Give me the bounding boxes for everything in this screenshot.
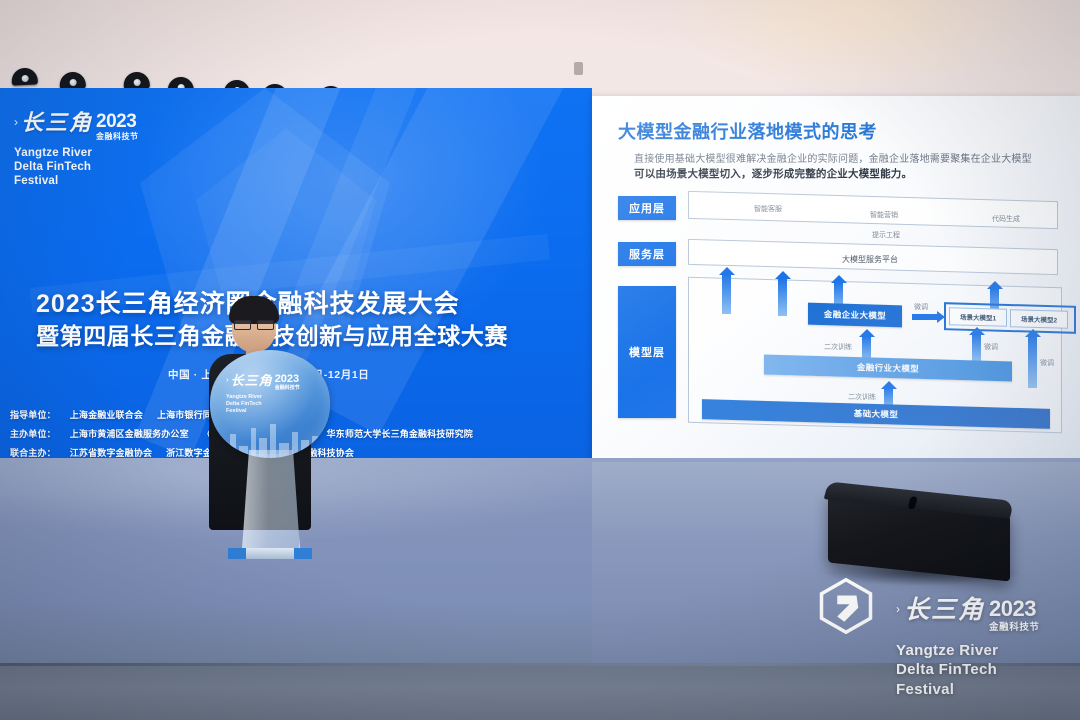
scene-model-box: 场景大模型2: [1010, 309, 1068, 329]
logo-en-line1: Yangtze River: [226, 394, 316, 401]
watermark-text: › 长三角 2023 金融科技节 Yangtze River Delta Fin…: [896, 598, 1068, 699]
logo-cn-subtitle: 金融科技节: [96, 133, 139, 141]
podium-foot-left: [228, 548, 246, 559]
sponsor-org: 江苏省数字金融协会: [70, 448, 152, 458]
sponsor-label: 主办单位：: [10, 429, 56, 439]
application-item: 智能客服: [754, 204, 782, 214]
hexagon-logo-icon: [818, 578, 874, 634]
arrow-label-finetune: 微调: [914, 302, 928, 312]
logo-year: 2023: [275, 374, 300, 385]
prompt-engineering-note: 提示工程: [872, 230, 900, 240]
projection-screen: 大模型金融行业落地模式的思考 直接使用基础大模型很难解决金融企业的实际问题，金融…: [592, 96, 1080, 466]
layer-chip-application: 应用层: [618, 196, 676, 220]
logo-en-line2: Delta FinTech: [896, 660, 1068, 680]
logo-arrow-icon: ›: [14, 112, 18, 132]
sponsor-org: 上海金融业联合会: [70, 410, 143, 420]
logo-en-line3: Festival: [226, 408, 316, 415]
arrow-label-retrain: 二次训练: [848, 392, 876, 402]
sponsor-label: 联合主办：: [10, 448, 56, 458]
logo-cn-subtitle: 金融科技节: [275, 386, 300, 391]
logo-year: 2023: [989, 598, 1040, 620]
logo-en-line3: Festival: [896, 680, 1068, 700]
logo-en-line2: Delta FinTech: [14, 160, 184, 174]
sponsor-org: 华东师范大学长三角金融科技研究院: [327, 429, 473, 439]
up-arrow-icon: [972, 334, 981, 362]
layer-chip-service: 服务层: [618, 242, 676, 266]
glasses-icon: [234, 320, 274, 328]
sponsor-label: 指导单位：: [10, 410, 56, 420]
slide-subtitle-line1: 直接使用基础大模型很难解决金融企业的实际问题，金融企业落地需要聚集在企业大模型: [634, 150, 1032, 165]
logo-cn-name: 长三角: [904, 598, 985, 623]
scene-model-box: 场景大模型1: [949, 307, 1007, 327]
arrow-label-finetune: 微调: [1040, 358, 1054, 368]
logo-en-line2: Delta FinTech: [226, 401, 316, 408]
podium: › 长三角 2023 金融科技节 Yangtze River Delta Fin…: [210, 350, 330, 565]
layer-chip-model: 模型层: [618, 286, 676, 418]
arrow-label-finetune: 微调: [984, 342, 998, 352]
up-arrow-icon: [1028, 336, 1037, 388]
logo-year: 2023: [96, 112, 139, 131]
logo-en-line1: Yangtze River: [896, 641, 1068, 661]
backdrop-festival-logo: › 长三角 2023 金融科技节 Yangtze River Delta Fin…: [14, 112, 184, 188]
arrow-label-retrain: 二次训练: [824, 342, 852, 352]
presentation-slide: 大模型金融行业落地模式的思考 直接使用基础大模型很难解决金融企业的实际问题，金融…: [592, 96, 1080, 466]
ceiling-speaker-icon: [574, 62, 583, 75]
logo-cn-name: 长三角: [231, 374, 273, 387]
service-platform-label: 大模型服务平台: [842, 254, 898, 265]
sponsor-org: 上海市黄浦区金融服务办公室: [70, 429, 189, 439]
right-arrow-icon: [912, 314, 938, 320]
up-arrow-icon: [778, 278, 787, 316]
podium-logo-panel: › 长三角 2023 金融科技节 Yangtze River Delta Fin…: [210, 350, 330, 458]
logo-cn-subtitle: 金融科技节: [989, 623, 1040, 633]
slide-subtitle-line2: 可以由场景大模型切入，逐步形成完整的企业大模型能力。: [634, 166, 912, 181]
conference-stage-photo: › 长三角 2023 金融科技节 Yangtze River Delta Fin…: [0, 0, 1080, 720]
application-item: 智能营销: [870, 210, 898, 220]
logo-cn-name: 长三角: [21, 112, 93, 134]
logo-arrow-icon: ›: [896, 598, 900, 620]
podium-stem: [242, 450, 300, 550]
podium-festival-logo: › 长三角 2023 金融科技节 Yangtze River Delta Fin…: [226, 374, 316, 415]
monitor-handle-slot: [908, 496, 918, 509]
application-item: 代码生成: [992, 214, 1020, 224]
logo-arrow-icon: ›: [226, 374, 229, 386]
model-box-enterprise: 金融企业大模型: [808, 303, 902, 328]
logo-en-line3: Festival: [14, 174, 184, 188]
podium-foot-right: [294, 548, 312, 559]
up-arrow-icon: [722, 274, 731, 314]
logo-en-line1: Yangtze River: [14, 146, 184, 160]
corner-watermark: › 长三角 2023 金融科技节 Yangtze River Delta Fin…: [818, 578, 1068, 710]
slide-title: 大模型金融行业落地模式的思考: [618, 118, 877, 144]
